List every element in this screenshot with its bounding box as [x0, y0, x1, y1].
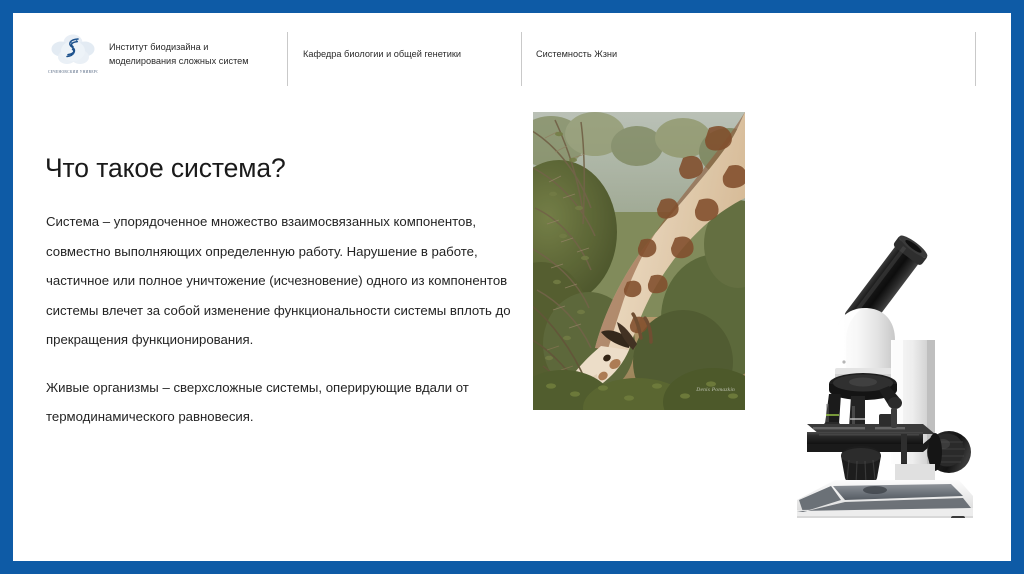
logo-caption: Сеченовский Университет — [48, 70, 98, 75]
body-text: Система – упорядоченное множество взаимо… — [46, 207, 526, 432]
logo-block: Сеченовский Университет — [47, 30, 99, 88]
slide-frame: Сеченовский Университет Институт биодиза… — [0, 0, 1024, 574]
slide-canvas: Сеченовский Университет Институт биодиза… — [13, 13, 1011, 561]
header-item-course: Системность Жзни — [536, 48, 736, 62]
header-divider-1 — [287, 32, 288, 86]
page-title: Что такое система? — [45, 151, 286, 185]
photo-watermark: Denis Pomazkin — [696, 387, 735, 393]
giraffe-browsing-acacia-photo: Denis Pomazkin — [533, 112, 745, 410]
header-divider-2 — [521, 32, 522, 86]
header-divider-3 — [975, 32, 976, 86]
slide-header: Сеченовский Университет Институт биодиза… — [13, 13, 1011, 93]
sechenov-university-logo-icon — [47, 30, 99, 70]
optical-microscope-image — [783, 228, 983, 518]
header-item-department: Кафедра биологии и общей генетики — [303, 48, 513, 62]
paragraph-living-organisms: Живые организмы – сверхсложные системы, … — [46, 373, 526, 432]
header-item-institute: Институт биодизайна и моделирования слож… — [109, 41, 274, 68]
paragraph-definition: Система – упорядоченное множество взаимо… — [46, 207, 526, 355]
